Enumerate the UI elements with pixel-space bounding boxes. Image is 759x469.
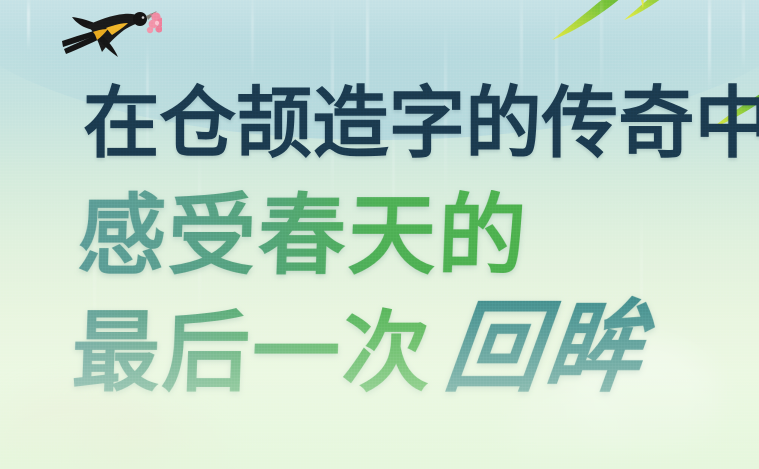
headline-block: 在仓颉造字的传奇中， 感受春天的 最后一次 回眸 (0, 0, 759, 469)
headline-line-3: 最后一次 回眸 (70, 305, 643, 399)
headline-line-1: 在仓颉造字的传奇中， (83, 82, 759, 164)
headline-line-3-bold: 最后一次 (70, 307, 433, 399)
headline-line-2: 感受春天的 (76, 190, 529, 282)
headline-line-3-brush: 回眸 (440, 301, 652, 397)
poster-canvas: 在仓颉造字的传奇中， 感受春天的 最后一次 回眸 (0, 0, 759, 469)
